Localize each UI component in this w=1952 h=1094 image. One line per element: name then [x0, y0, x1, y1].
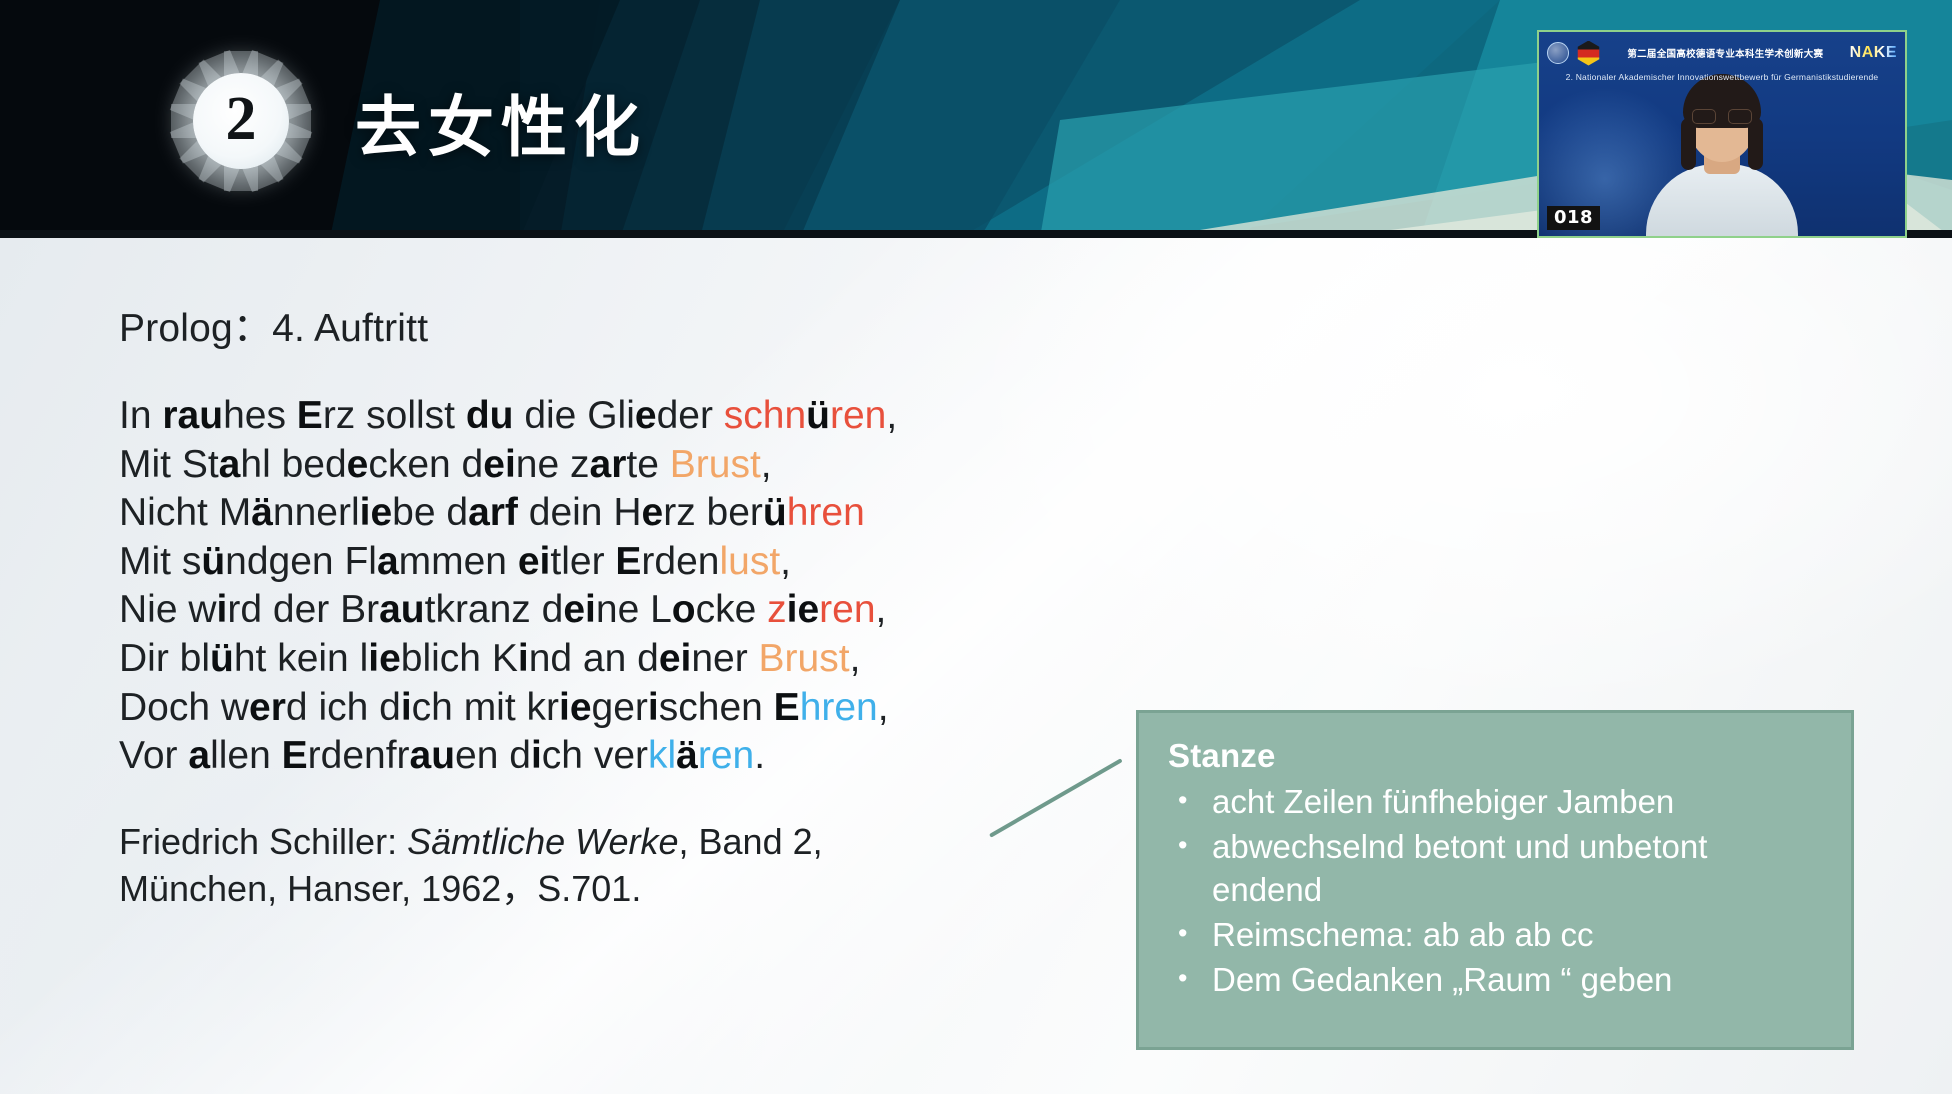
poem-line: Doch werd ich dich mit kriegerischen Ehr… [119, 684, 897, 733]
poem-text-run: hl bed [240, 443, 346, 486]
stressed-syllable: E [615, 540, 641, 583]
poem-line: Nicht Männerliebe darf dein Herz berühre… [119, 489, 897, 538]
stressed-syllable: au [410, 734, 456, 777]
poem-line: Mit sündgen Flammen eitler Erdenlust, [119, 538, 897, 587]
rhyme-word-a: schn [724, 394, 806, 437]
rhyme-word-a: ren [830, 394, 886, 437]
stressed-syllable: du [466, 394, 514, 437]
rhyme-word-a: ü [763, 491, 787, 534]
poem-text-run: d ich d [286, 686, 401, 729]
globe-icon [1547, 42, 1569, 64]
poem-text-run: die Gli [513, 394, 634, 437]
stanze-callout-box: Stanze acht Zeilen fünfhebiger Jambenabw… [1136, 710, 1854, 1050]
poem-text-run: rdenfr [308, 734, 410, 777]
rhyme-word-a: z [767, 588, 787, 631]
poem-text-run: rz ber [663, 491, 763, 534]
stressed-syllable: ie [360, 491, 393, 534]
poem-text-run: hes [223, 394, 297, 437]
stressed-syllable: au [379, 588, 425, 631]
competition-banner: 第二届全国高校德语专业本科生学术创新大赛 NAKE [1539, 32, 1905, 74]
german-flag-icon [1576, 41, 1601, 66]
callout-bullet-item: Dem Gedanken „Raum “ geben [1165, 958, 1825, 1001]
poem-text-run: ht kein l [234, 637, 368, 680]
poem-line: Nie wird der Brautkranz deine Locke zier… [119, 586, 897, 635]
rhyme-word-a: ie [787, 588, 820, 631]
poem-text-run: , [876, 588, 887, 631]
rhyme-word-c: hren [800, 686, 878, 729]
poem-text-run: mmen [399, 540, 518, 583]
presenter-hair-left [1681, 118, 1696, 170]
poem-text-run: ne z [516, 443, 590, 486]
poem-text: In rauhes Erz sollst du die Glieder schn… [119, 392, 897, 781]
rhyme-word-c: E [774, 686, 800, 729]
badge-circle: 2 [193, 73, 289, 169]
callout-bullet-item: acht Zeilen fünfhebiger Jamben [1165, 780, 1825, 823]
participant-number-badge: 018 [1547, 206, 1600, 230]
callout-bullet-item: abwechselnd betont und unbetont endend [1165, 825, 1825, 911]
stressed-syllable: i [401, 686, 412, 729]
rhyme-word-c: ren [698, 734, 754, 777]
prolog-heading: Prolog：4. Auftritt [119, 297, 428, 353]
stressed-syllable: er [249, 686, 286, 729]
slide-body: Prolog：4. Auftritt In rauhes Erz sollst … [0, 238, 1952, 1094]
presenter-video-panel[interactable]: 第二届全国高校德语专业本科生学术创新大赛 NAKE 2. Nationaler … [1537, 30, 1907, 238]
rhyme-word-a: ü [806, 394, 830, 437]
poem-text-run: nnerl [273, 491, 360, 534]
poem-line: Mit Stahl bedecken deine zarte Brust, [119, 441, 897, 490]
poem-text-run: cken d [368, 443, 483, 486]
poem-text-run: nd an d [529, 637, 659, 680]
rhyme-word-c: ä [676, 734, 698, 777]
stressed-syllable: o [672, 588, 696, 631]
callout-connector-line [989, 758, 1123, 837]
poem-text-run: ner [691, 637, 758, 680]
poem-text-run: ger [592, 686, 648, 729]
stressed-syllable: ei [563, 588, 596, 631]
presentation-slide: 2 去女性化 Prolog：4. Auftritt In rauhes Erz … [0, 0, 1952, 1094]
poem-line: In rauhes Erz sollst du die Glieder schn… [119, 392, 897, 441]
section-number: 2 [226, 88, 257, 154]
stressed-syllable: ie [368, 637, 401, 680]
poem-text-run: llen [210, 734, 282, 777]
poem-line: Dir blüht kein lieblich Kind an deiner B… [119, 635, 897, 684]
presenter-hair-right [1748, 118, 1763, 170]
poem-text-run: der [657, 394, 724, 437]
poem-text-run: ndgen Fl [225, 540, 377, 583]
banner-title-chinese: 第二届全国高校德语专业本科生学术创新大赛 [1608, 46, 1843, 60]
poem-text-run: schen [659, 686, 774, 729]
stressed-syllable: e [347, 443, 369, 486]
poem-text-run: , [878, 686, 889, 729]
stressed-syllable: rau [162, 394, 223, 437]
citation-volume: , Band 2, [679, 821, 823, 862]
poem-text-run: tler [550, 540, 615, 583]
stressed-syllable: ei [518, 540, 551, 583]
poem-text-run: Dir bl [119, 637, 210, 680]
banner-title-german: 2. Nationaler Akademischer Innovationswe… [1539, 72, 1905, 82]
callout-title: Stanze [1168, 737, 1825, 775]
poem-text-run: rden [641, 540, 719, 583]
poem-text-run: Nicht M [119, 491, 251, 534]
poem-text-run: ch ver [542, 734, 648, 777]
callout-bullet-item: Reimschema: ab ab ab cc [1165, 913, 1825, 956]
poem-text-run: Doch w [119, 686, 249, 729]
presenter-glasses [1692, 109, 1752, 124]
stressed-syllable: a [377, 540, 399, 583]
poem-text-run: In [119, 394, 162, 437]
poem-text-run: en d [455, 734, 531, 777]
poem-text-run: dein H [518, 491, 642, 534]
stressed-syllable: i [518, 637, 529, 680]
rhyme-word-b: Brust [759, 637, 850, 680]
nake-logo: NAKE [1850, 44, 1897, 62]
poem-text-run: tkranz d [425, 588, 564, 631]
poem-text-run: , [780, 540, 791, 583]
stressed-syllable: ei [483, 443, 516, 486]
poem-text-run: rz sollst [323, 394, 466, 437]
citation-work-title: Sämtliche Werke [407, 821, 678, 862]
poem-text-run: cke [696, 588, 768, 631]
stressed-syllable: i [531, 734, 542, 777]
rhyme-word-a: hren [787, 491, 865, 534]
poem-text-run: , [850, 637, 861, 680]
stressed-syllable: e [635, 394, 657, 437]
stressed-syllable: ä [251, 491, 273, 534]
poem-text-run: Vor [119, 734, 188, 777]
rhyme-word-b: lust [719, 540, 780, 583]
citation-publisher: München, Hanser, 1962，S.701. [119, 868, 641, 909]
citation-author: Friedrich Schiller: [119, 821, 407, 862]
poem-text-run: blich K [401, 637, 518, 680]
stressed-syllable: ei [659, 637, 692, 680]
poem-text-run: Mit s [119, 540, 201, 583]
stressed-syllable: E [297, 394, 323, 437]
stressed-syllable: a [188, 734, 210, 777]
source-citation: Friedrich Schiller: Sämtliche Werke, Ban… [119, 818, 823, 912]
poem-text-run: rd der Br [227, 588, 379, 631]
stressed-syllable: e [642, 491, 664, 534]
callout-bullet-list: acht Zeilen fünfhebiger Jambenabwechseln… [1165, 780, 1825, 1001]
stressed-syllable: arf [468, 491, 518, 534]
stressed-syllable: ü [201, 540, 225, 583]
poem-text-run: , [761, 443, 772, 486]
poem-line: Vor allen Erdenfrauen dich verklären. [119, 732, 897, 781]
poem-text-run: Nie w [119, 588, 217, 631]
stressed-syllable: ar [590, 443, 627, 486]
slide-title: 去女性化 [355, 74, 647, 170]
poem-text-run: ch mit kr [412, 686, 559, 729]
stressed-syllable: a [219, 443, 241, 486]
stressed-syllable: ie [559, 686, 592, 729]
poem-text-run: ne L [596, 588, 672, 631]
stressed-syllable: ü [210, 637, 234, 680]
poem-text-run: , [886, 394, 897, 437]
rhyme-word-a: ren [819, 588, 875, 631]
poem-text-run: te [626, 443, 669, 486]
stressed-syllable: i [648, 686, 659, 729]
rhyme-word-b: Brust [670, 443, 761, 486]
section-number-badge: 2 [168, 48, 314, 194]
poem-text-run: Mit St [119, 443, 219, 486]
poem-text-run: . [754, 734, 765, 777]
rhyme-word-c: kl [648, 734, 676, 777]
poem-text-run: be d [392, 491, 468, 534]
stressed-syllable: i [217, 588, 228, 631]
stressed-syllable: E [282, 734, 308, 777]
